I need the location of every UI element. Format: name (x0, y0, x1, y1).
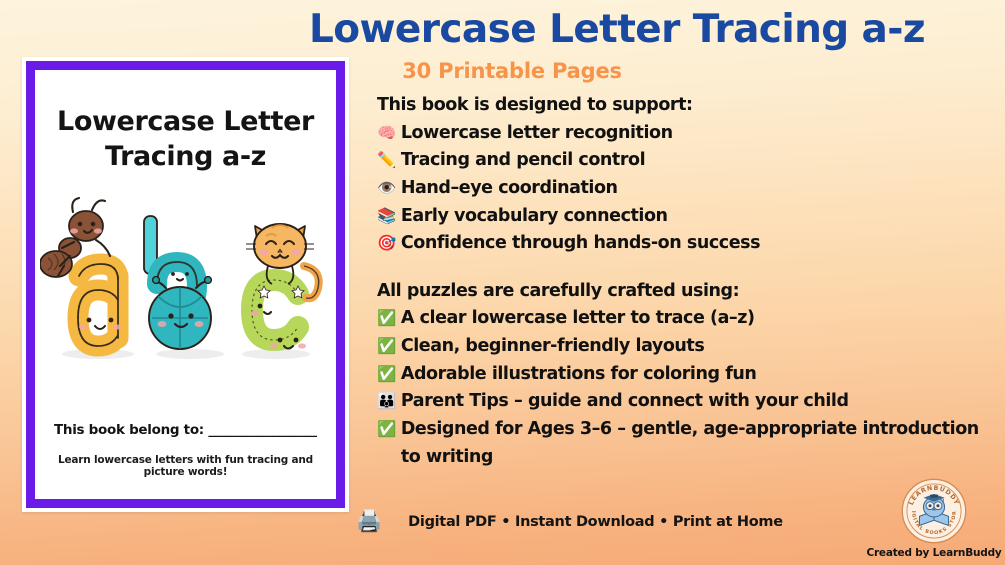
check-mark-icon: ✅ (377, 361, 396, 388)
marketing-copy: This book is designed to support: 🧠 Lowe… (377, 92, 985, 471)
support-heading: This book is designed to support: (377, 92, 985, 120)
book-cover-inner: Lowercase Letter Tracing a-z .ln{fill:no… (39, 74, 332, 495)
crafted-item-1: ✅ Clean, beginner-friendly layouts (377, 333, 985, 361)
support-item-2: 👁️ Hand–eye coordination (377, 175, 985, 203)
book-cover-title-line1: Lowercase Letter (57, 105, 314, 140)
crafted-item-label: Clean, beginner-friendly layouts (401, 333, 985, 361)
book-cover-card: Lowercase Letter Tracing a-z .ln{fill:no… (22, 57, 349, 512)
books-icon: 📚 (377, 203, 396, 230)
crafted-item-4: ✅ Designed for Ages 3–6 – gentle, age-ap… (377, 416, 985, 471)
letter-a-group (78, 264, 121, 346)
crafted-item-label: Parent Tips – guide and connect with you… (401, 388, 985, 416)
support-item-label: Hand–eye coordination (401, 175, 985, 203)
book-cover-footer: This book belong to: ___________________… (40, 422, 331, 478)
book-cover-tagline: Learn lowercase letters with fun tracing… (54, 454, 317, 478)
letter-c-group (251, 280, 306, 349)
book-belongs-to-label: This book belong to: (54, 422, 204, 438)
support-item-label: Early vocabulary connection (401, 203, 985, 231)
target-icon: 🎯 (377, 230, 396, 257)
page-title: Lowercase Letter Tracing a-z (232, 8, 1002, 52)
brain-icon: 🧠 (377, 120, 396, 147)
support-item-label: Tracing and pencil control (401, 147, 985, 175)
pencil-icon: ✏️ (377, 147, 396, 174)
crafted-item-2: ✅ Adorable illustrations for coloring fu… (377, 361, 985, 389)
eye-icon: 👁️ (377, 175, 396, 202)
book-cover-title: Lowercase Letter Tracing a-z (57, 105, 314, 174)
letter-b-group (144, 216, 211, 349)
support-item-3: 📚 Early vocabulary connection (377, 203, 985, 231)
brand-badge: LEARNBUDDY DIGITAL BOOKS STORE Created b… (875, 478, 993, 559)
book-cover-frame: Lowercase Letter Tracing a-z .ln{fill:no… (26, 61, 345, 508)
crafted-heading: All puzzles are carefully crafted using: (377, 278, 985, 306)
brand-caption: Created by LearnBuddy (866, 547, 1001, 559)
crafted-item-label: Designed for Ages 3–6 – gentle, age-appr… (401, 416, 985, 471)
section-spacer (377, 258, 985, 278)
support-item-1: ✏️ Tracing and pencil control (377, 147, 985, 175)
crafted-item-3: 👪 Parent Tips – guide and connect with y… (377, 388, 985, 416)
book-belongs-to-blank: ______________________ (208, 422, 317, 438)
support-item-4: 🎯 Confidence through hands-on success (377, 230, 985, 258)
check-mark-icon: ✅ (377, 333, 396, 360)
printer-icon: 🖨️ (356, 511, 382, 532)
crafted-item-0: ✅ A clear lowercase letter to trace (a–z… (377, 305, 985, 333)
learnbuddy-owl-badge: LEARNBUDDY DIGITAL BOOKS STORE (901, 478, 967, 544)
book-belongs-to-line: This book belong to: ___________________… (54, 422, 317, 438)
delivery-footer: 🖨️ Digital PDF • Instant Download • Prin… (356, 511, 783, 532)
book-cover-title-line2: Tracing a-z (57, 140, 314, 175)
support-item-label: Confidence through hands-on success (401, 230, 985, 258)
family-icon: 👪 (377, 388, 396, 415)
support-item-label: Lowercase letter recognition (401, 120, 985, 148)
check-mark-icon: ✅ (377, 305, 396, 332)
crafted-item-label: A clear lowercase letter to trace (a–z) (401, 305, 985, 333)
crafted-item-label: Adorable illustrations for coloring fun (401, 361, 985, 389)
check-mark-icon: ✅ (377, 416, 396, 443)
support-item-0: 🧠 Lowercase letter recognition (377, 120, 985, 148)
delivery-footer-text: Digital PDF • Instant Download • Print a… (408, 514, 783, 530)
abc-illustration: .ln{fill:none;stroke:#2b2118;stroke-widt… (40, 188, 332, 368)
